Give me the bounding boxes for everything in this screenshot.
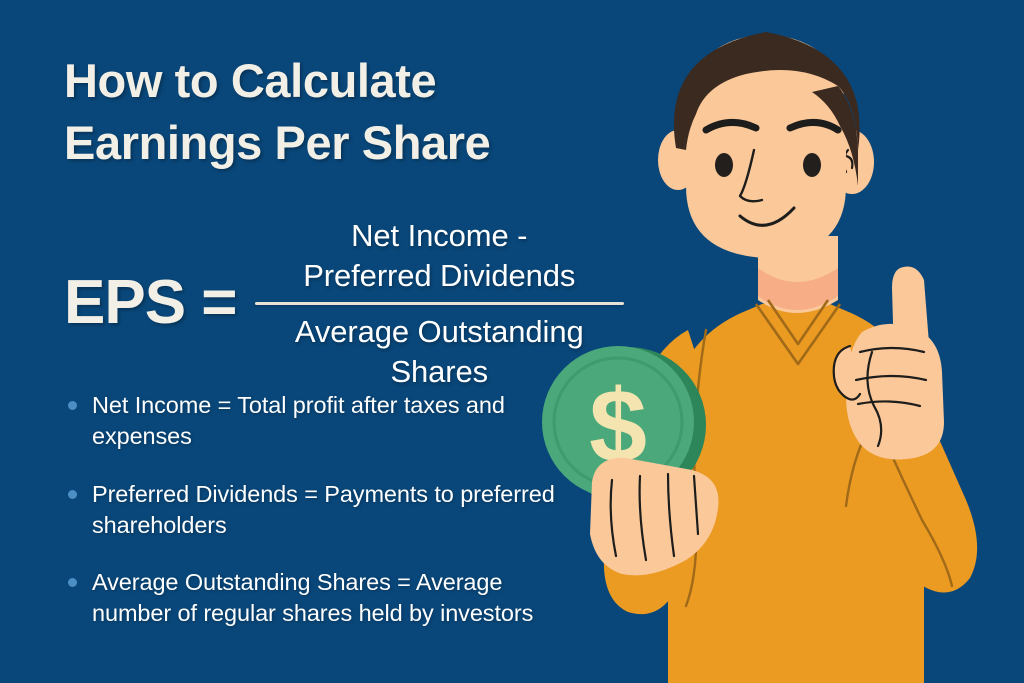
infographic-canvas: $ — [0, 0, 1024, 683]
head-group — [658, 32, 874, 258]
bullet-dot-icon — [68, 578, 77, 587]
list-item-label: Net Income = Total profit after taxes an… — [92, 392, 505, 449]
formula-left-hand-side: EPS = — [64, 272, 255, 334]
eye-left — [715, 153, 733, 177]
fraction-bar — [255, 302, 625, 305]
eye-right — [803, 153, 821, 177]
formula-fraction: Net Income - Preferred Dividends Average… — [255, 214, 625, 392]
eps-formula: EPS = Net Income - Preferred Dividends A… — [64, 214, 624, 392]
text-column: How to Calculate Earnings Per Share EPS … — [0, 0, 640, 683]
fist-palm — [846, 324, 944, 460]
list-item: Net Income = Total profit after taxes an… — [64, 390, 574, 453]
formula-denominator: Average Outstanding Shares — [255, 312, 625, 392]
formula-numerator: Net Income - Preferred Dividends — [255, 216, 625, 296]
bullet-dot-icon — [68, 401, 77, 410]
list-item: Average Outstanding Shares = Average num… — [64, 567, 574, 630]
definitions-list: Net Income = Total profit after taxes an… — [64, 390, 574, 630]
page-title: How to Calculate Earnings Per Share — [64, 50, 604, 174]
list-item-label: Preferred Dividends = Payments to prefer… — [92, 481, 555, 538]
bullet-dot-icon — [68, 490, 77, 499]
list-item: Preferred Dividends = Payments to prefer… — [64, 479, 574, 542]
list-item-label: Average Outstanding Shares = Average num… — [92, 569, 533, 626]
